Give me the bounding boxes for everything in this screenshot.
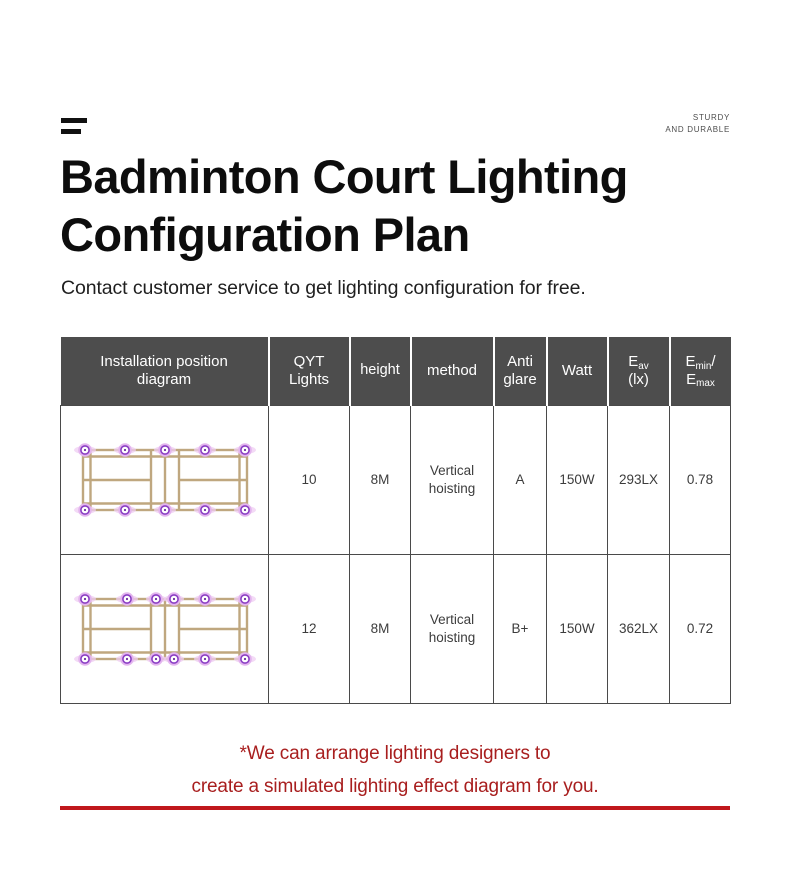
column-header-eav: Eav (lx) — [608, 337, 670, 406]
cell-watt: 150W — [547, 406, 608, 555]
light-fixture-icon — [146, 653, 166, 664]
installation-header-line-2: diagram — [63, 371, 266, 389]
court-lines — [83, 450, 247, 510]
eav-header-line-1: Eav — [611, 353, 667, 371]
qyt-header-line-1: QYT — [272, 353, 347, 371]
emax-header-line-2: Emax — [673, 371, 729, 389]
light-fixture-icon — [114, 444, 136, 455]
cell-installation-diagram — [61, 555, 269, 704]
court-svg-12-lights — [72, 577, 258, 681]
cell-watt: 150W — [547, 555, 608, 704]
method-line-1: Vertical — [413, 462, 491, 480]
light-fixture-icon — [154, 444, 176, 455]
court-lines — [83, 599, 247, 659]
tagline-line-1: STURDY — [665, 112, 730, 124]
qyt-header-line-2: Lights — [272, 371, 347, 389]
emin-slash: / — [711, 353, 715, 370]
emin-base: E — [685, 353, 695, 370]
spec-table: Installation position diagram QYT Lights… — [60, 337, 731, 704]
tagline-line-2: AND DURABLE — [665, 124, 730, 136]
column-header-emin-emax: Emin/ Emax — [670, 337, 731, 406]
footer-rule — [60, 806, 730, 810]
cell-height: 8M — [350, 555, 411, 704]
light-fixture-icon — [234, 444, 256, 455]
table-row: 12 8M Vertical hoisting B+ 150W 362LX 0.… — [61, 555, 731, 704]
decorative-bar-bottom — [61, 129, 81, 134]
cell-qyt-lights: 10 — [269, 406, 350, 555]
cell-eav: 293LX — [608, 406, 670, 555]
eav-header-line-2: (lx) — [611, 371, 667, 389]
column-header-height: height — [350, 337, 411, 406]
light-fixture-icon — [234, 593, 256, 604]
decorative-bar-top — [61, 118, 87, 123]
tagline: STURDY AND DURABLE — [665, 112, 730, 137]
emax-base: E — [686, 371, 696, 388]
light-fixture-icon — [194, 653, 216, 664]
column-header-watt: Watt — [547, 337, 608, 406]
table-row: 10 8M Vertical hoisting A 150W 293LX 0.7… — [61, 406, 731, 555]
emax-subscript: max — [696, 378, 715, 389]
light-fixture-icon — [234, 504, 256, 515]
decorative-mark — [61, 118, 87, 134]
cell-qyt-lights: 12 — [269, 555, 350, 704]
light-fixture-icon — [154, 504, 176, 515]
light-fixture-icon — [194, 504, 216, 515]
light-fixture-icon — [194, 444, 216, 455]
cell-anti-glare: A — [494, 406, 547, 555]
page-title: Badminton Court Lighting Configuration P… — [60, 148, 760, 265]
light-fixture-icon — [74, 593, 96, 604]
cell-method: Vertical hoisting — [411, 555, 494, 704]
footer-note-line-1: *We can arrange lighting designers to — [0, 738, 790, 771]
cell-installation-diagram — [61, 406, 269, 555]
light-fixture-icon — [116, 593, 138, 604]
light-fixture-icon — [74, 653, 96, 664]
light-fixture-icon — [234, 653, 256, 664]
method-line-1: Vertical — [413, 611, 491, 629]
page-subtitle: Contact customer service to get lighting… — [61, 277, 586, 300]
light-fixture-icon — [116, 653, 138, 664]
light-fixture-icon — [164, 653, 184, 664]
anti-glare-header-line-1: Anti — [497, 353, 544, 371]
cell-anti-glare: B+ — [494, 555, 547, 704]
emin-header-line-1: Emin/ — [673, 353, 729, 371]
cell-height: 8M — [350, 406, 411, 555]
cell-uniformity: 0.72 — [670, 555, 731, 704]
badminton-court-diagram — [61, 555, 268, 703]
spec-table-wrapper: Installation position diagram QYT Lights… — [60, 337, 730, 704]
cell-method: Vertical hoisting — [411, 406, 494, 555]
court-svg-10-lights — [72, 428, 258, 532]
footer-note: *We can arrange lighting designers to cr… — [0, 738, 790, 803]
anti-glare-header-line-2: glare — [497, 371, 544, 389]
eav-base: E — [628, 353, 638, 370]
badminton-court-diagram — [61, 406, 268, 554]
method-line-2: hoisting — [413, 629, 491, 647]
emin-subscript: min — [695, 361, 711, 372]
column-header-installation-diagram: Installation position diagram — [61, 337, 269, 406]
installation-header-line-1: Installation position — [63, 353, 266, 371]
cell-eav: 362LX — [608, 555, 670, 704]
eav-subscript: av — [638, 361, 648, 372]
light-fixture-icon — [114, 504, 136, 515]
column-header-qyt-lights: QYT Lights — [269, 337, 350, 406]
light-fixture-icon — [194, 593, 216, 604]
light-fixture-icon — [74, 504, 96, 515]
method-line-2: hoisting — [413, 480, 491, 498]
table-header-row: Installation position diagram QYT Lights… — [61, 337, 731, 406]
cell-uniformity: 0.78 — [670, 406, 731, 555]
light-fixture-icon — [146, 593, 166, 604]
light-fixture-icon — [164, 593, 184, 604]
column-header-method: method — [411, 337, 494, 406]
footer-note-line-2: create a simulated lighting effect diagr… — [0, 771, 790, 804]
column-header-anti-glare: Anti glare — [494, 337, 547, 406]
light-fixture-icon — [74, 444, 96, 455]
